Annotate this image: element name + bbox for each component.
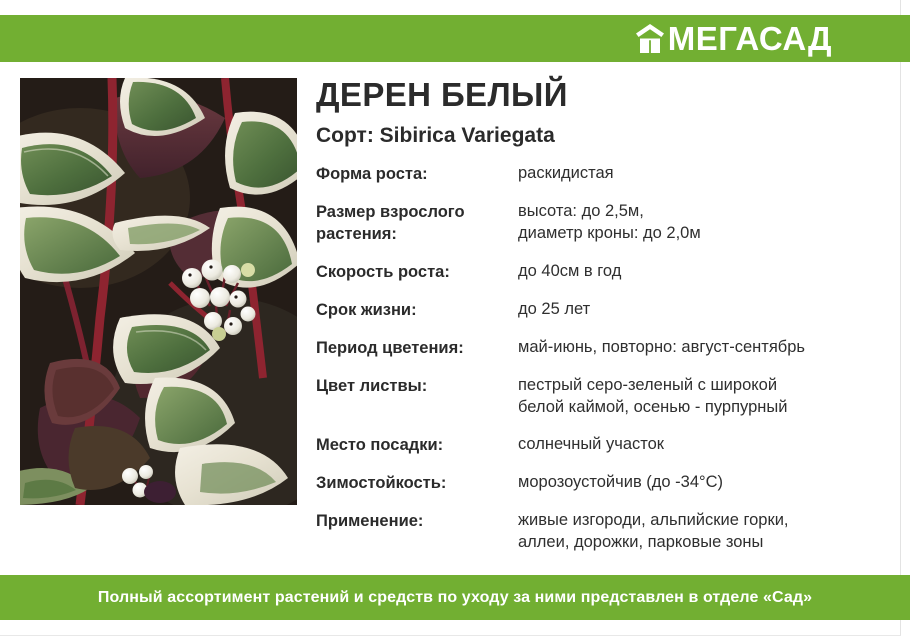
spec-value-line: пестрый серо-зеленый с широкой	[518, 374, 886, 396]
spec-label: Срок жизни:	[316, 298, 518, 321]
spec-value: живые изгороди, альпийские горки, аллеи,…	[518, 509, 886, 553]
spec-label: Скорость роста:	[316, 260, 518, 283]
spec-value-line: белой каймой, осенью - пурпурный	[518, 396, 886, 418]
spec-row: Зимостойкость: морозоустойчив (до -34°C)	[316, 471, 886, 494]
spec-label: Место посадки:	[316, 433, 518, 456]
spec-value-line: солнечный участок	[518, 433, 886, 455]
plant-photo	[20, 78, 297, 505]
spec-value: морозоустойчив (до -34°C)	[518, 471, 886, 493]
spec-value-line: высота: до 2,5м,	[518, 200, 886, 222]
spec-row: Цвет листвы: пестрый серо-зеленый с широ…	[316, 374, 886, 418]
spec-label: Период цветения:	[316, 336, 518, 359]
brand-logo[interactable]: МЕГАСАД	[635, 22, 910, 55]
spec-row: Размер взрослого растения: высота: до 2,…	[316, 200, 886, 245]
spec-value: солнечный участок	[518, 433, 886, 455]
spec-label: Цвет листвы:	[316, 374, 518, 397]
spec-label: Размер взрослого растения:	[316, 200, 518, 245]
spec-value-line: диаметр кроны: до 2,0м	[518, 222, 886, 244]
spec-value-line: до 40см в год	[518, 260, 886, 282]
header-bar: МЕГАСАД	[0, 15, 910, 62]
spec-value-line: май-июнь, повторно: август-сентябрь	[518, 336, 886, 358]
footer-text: Полный ассортимент растений и средств по…	[98, 588, 812, 608]
brand-logo-text: МЕГАСАД	[668, 22, 832, 55]
spec-value-line: аллеи, дорожки, парковые зоны	[518, 531, 886, 553]
spec-value: май-июнь, повторно: август-сентябрь	[518, 336, 886, 358]
title-block: ДЕРЕН БЕЛЫЙ Сорт: Sibirica Variegata	[316, 76, 876, 148]
plant-name-title: ДЕРЕН БЕЛЫЙ	[316, 76, 876, 114]
spec-value: пестрый серо-зеленый с широкой белой кай…	[518, 374, 886, 418]
spec-row: Применение: живые изгороди, альпийские г…	[316, 509, 886, 553]
spec-value: раскидистая	[518, 162, 886, 184]
spec-table: Форма роста: раскидистая Размер взрослог…	[316, 162, 886, 568]
spec-value: до 25 лет	[518, 298, 886, 320]
spec-value-line: раскидистая	[518, 162, 886, 184]
plant-info-poster: МЕГАСАД	[0, 0, 910, 644]
plant-cultivar: Сорт: Sibirica Variegata	[316, 123, 876, 148]
spec-label: Зимостойкость:	[316, 471, 518, 494]
spec-value-line: живые изгороди, альпийские горки,	[518, 509, 886, 531]
spec-value: до 40см в год	[518, 260, 886, 282]
spec-row: Период цветения: май-июнь, повторно: авг…	[316, 336, 886, 359]
spec-row: Скорость роста: до 40см в год	[316, 260, 886, 283]
spec-label: Форма роста:	[316, 162, 518, 185]
spec-row: Место посадки: солнечный участок	[316, 433, 886, 456]
spec-row: Форма роста: раскидистая	[316, 162, 886, 185]
spec-value: высота: до 2,5м, диаметр кроны: до 2,0м	[518, 200, 886, 244]
footer-bar: Полный ассортимент растений и средств по…	[0, 575, 910, 620]
spec-value-line: морозоустойчив (до -34°C)	[518, 471, 886, 493]
spec-label: Применение:	[316, 509, 518, 532]
greenhouse-house-icon	[635, 23, 665, 54]
spec-row: Срок жизни: до 25 лет	[316, 298, 886, 321]
spec-value-line: до 25 лет	[518, 298, 886, 320]
